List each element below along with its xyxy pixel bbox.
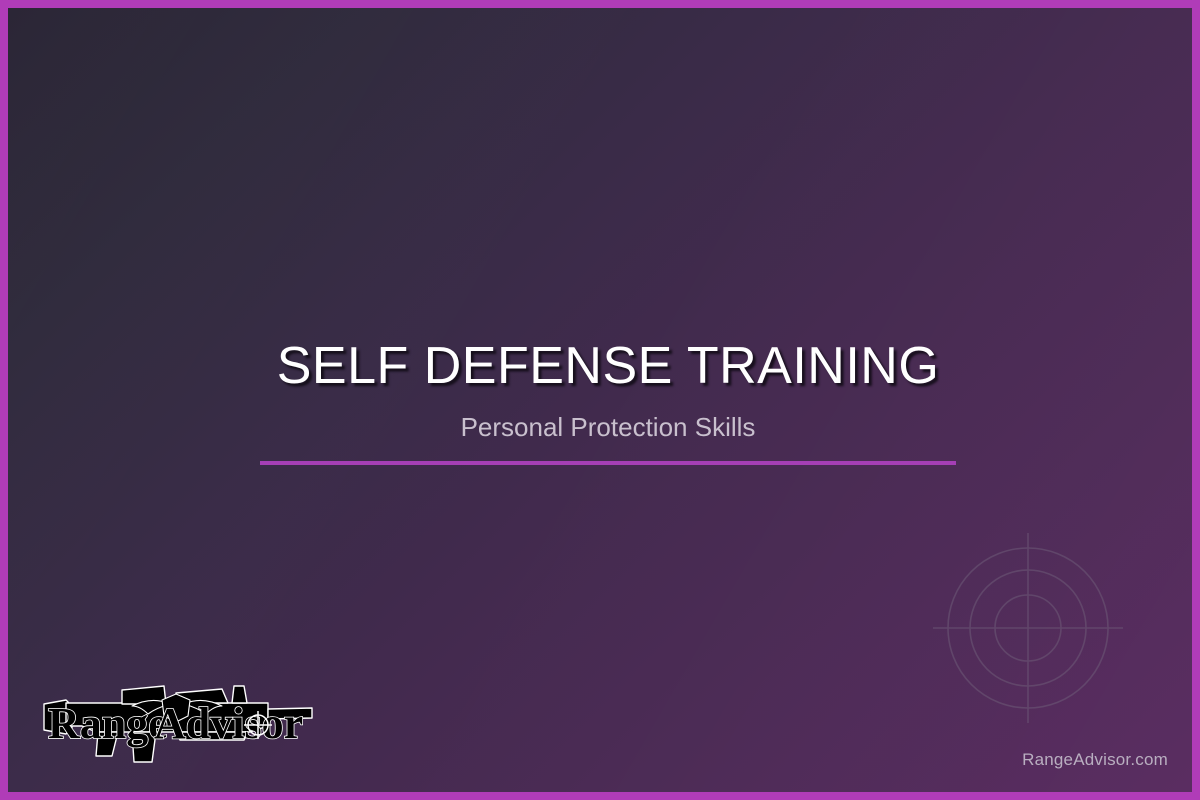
footer-watermark-url: RangeAdvisor.com xyxy=(1022,750,1168,770)
brand-logo: Range Advisor xyxy=(36,676,318,776)
title-divider xyxy=(260,461,956,465)
brand-wordmark-advisor: Advisor xyxy=(154,699,303,748)
crosshair-target-icon xyxy=(928,528,1128,728)
presentation-slide: SELF DEFENSE TRAINING Personal Protectio… xyxy=(0,0,1200,800)
brand-wordmark-range: Range xyxy=(48,699,168,748)
page-subtitle: Personal Protection Skills xyxy=(8,392,1200,440)
brand-wordmark: Range Advisor xyxy=(48,699,303,748)
page-title: SELF DEFENSE TRAINING xyxy=(8,340,1200,392)
title-block: SELF DEFENSE TRAINING Personal Protectio… xyxy=(8,340,1200,465)
